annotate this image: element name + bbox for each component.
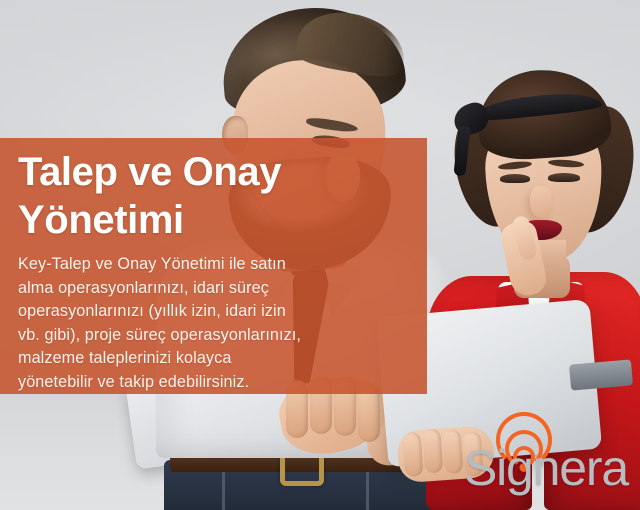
- orange-text-panel: Talep ve Onay Yönetimi Key-Talep ve Onay…: [0, 138, 427, 394]
- description-line-4: vb. gibi), proje süreç operasyonlarınızı…: [18, 324, 396, 348]
- brand-wordmark: Signera: [464, 440, 640, 496]
- description-line-2: alma operasyonlarınızı, idari süreç: [18, 277, 396, 301]
- description-line-5: malzeme taleplerinizi kolayca: [18, 347, 396, 371]
- page-description: Key-Talep ve Onay Yönetimi ile satın alm…: [18, 253, 396, 394]
- woman-nose: [530, 186, 552, 218]
- brand-logo[interactable]: Signera: [464, 440, 640, 498]
- woman-eye-right: [548, 173, 580, 182]
- page-title: Talep ve Onay Yönetimi: [18, 148, 418, 244]
- description-line-3: operasyonlarınızı (yıllık izin, idari iz…: [18, 300, 396, 324]
- description-line-1: Key-Talep ve Onay Yönetimi ile satın: [18, 253, 396, 277]
- description-line-6: yönetebilir ve takip edebilirsiniz.: [18, 371, 396, 395]
- page-title-line-1: Talep ve Onay: [18, 148, 418, 196]
- woman-eye-left: [500, 174, 530, 183]
- page-title-line-2: Yönetimi: [18, 196, 418, 244]
- laptop-hinge-edge: [569, 359, 633, 390]
- banner-stage: Talep ve Onay Yönetimi Key-Talep ve Onay…: [0, 0, 640, 510]
